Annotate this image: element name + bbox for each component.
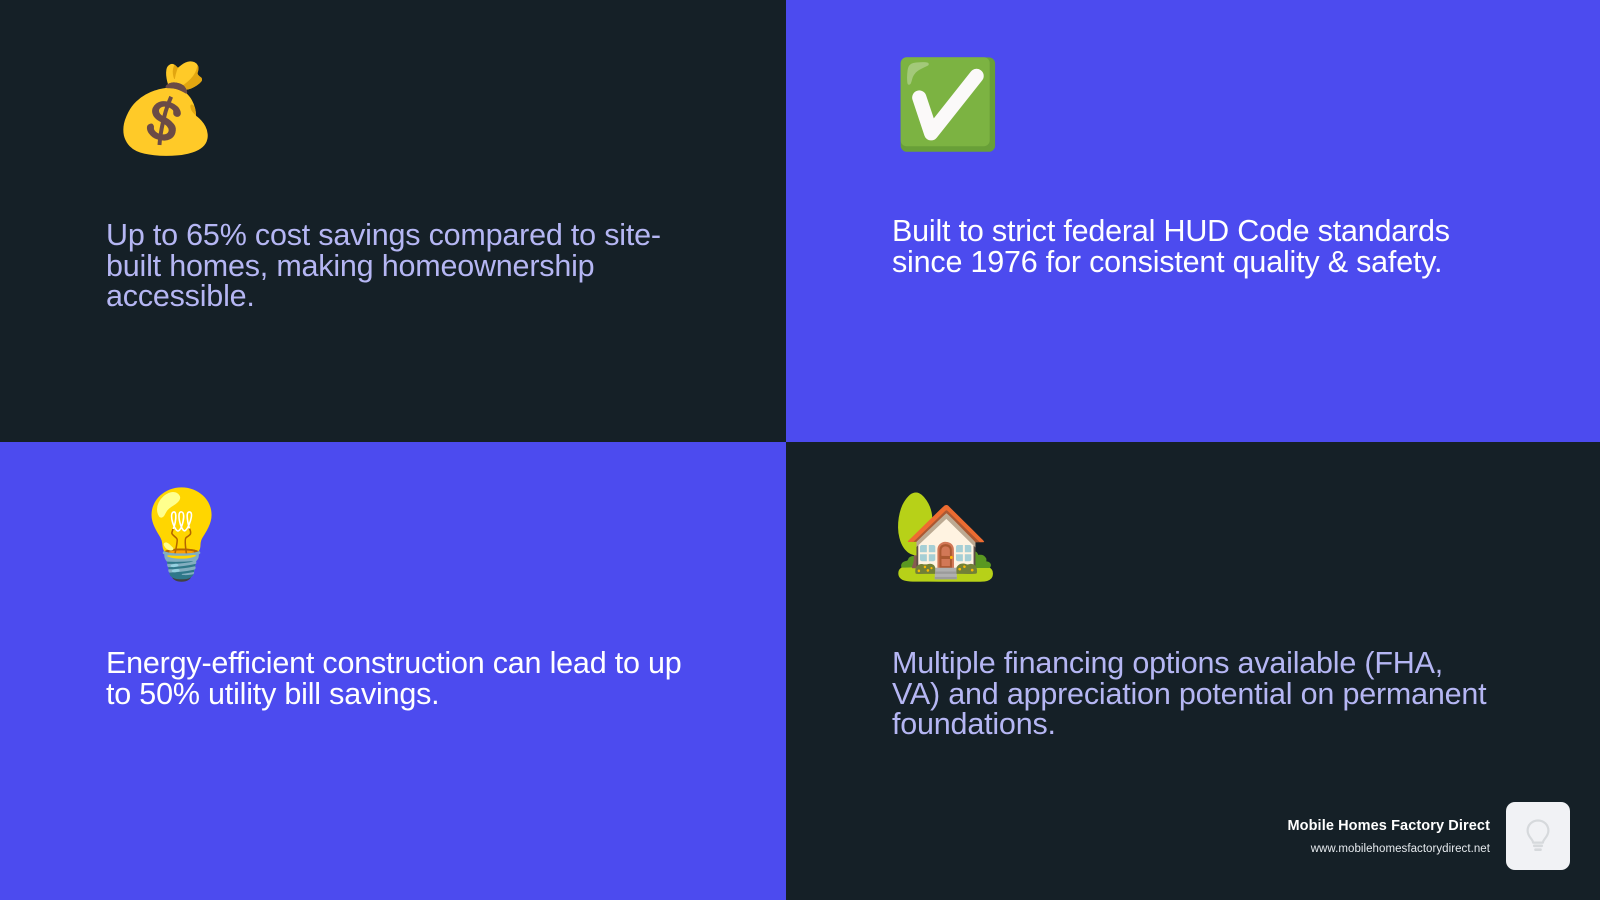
benefit-text-financing: Multiple financing options available (FH… <box>892 648 1492 740</box>
house-with-garden-icon: 🏡 <box>892 492 1600 602</box>
benefits-grid: 💰 Up to 65% cost savings compared to sit… <box>0 0 1600 900</box>
brand-logo <box>1506 802 1570 870</box>
branding-text-block: Mobile Homes Factory Direct www.mobileho… <box>1287 818 1490 855</box>
benefit-card-cost-savings: 💰 Up to 65% cost savings compared to sit… <box>0 0 786 442</box>
benefit-card-energy-efficiency: 💡 Energy-efficient construction can lead… <box>0 442 786 900</box>
benefit-card-hud-code: ✅ Built to strict federal HUD Code stand… <box>786 0 1600 442</box>
benefit-text-cost-savings: Up to 65% cost savings compared to site-… <box>106 220 686 312</box>
check-mark-button-icon: ✅ <box>894 62 1600 172</box>
brand-name: Mobile Homes Factory Direct <box>1287 818 1490 834</box>
brand-url[interactable]: www.mobilehomesfactorydirect.net <box>1311 843 1490 855</box>
benefit-text-energy-efficiency: Energy-efficient construction can lead t… <box>106 648 686 709</box>
benefit-text-hud-code: Built to strict federal HUD Code standar… <box>892 216 1492 277</box>
lightbulb-logo-icon <box>1525 819 1551 853</box>
branding-footer: Mobile Homes Factory Direct www.mobileho… <box>1287 802 1570 870</box>
light-bulb-icon: 💡 <box>128 492 786 602</box>
money-bag-icon: 💰 <box>112 66 786 176</box>
